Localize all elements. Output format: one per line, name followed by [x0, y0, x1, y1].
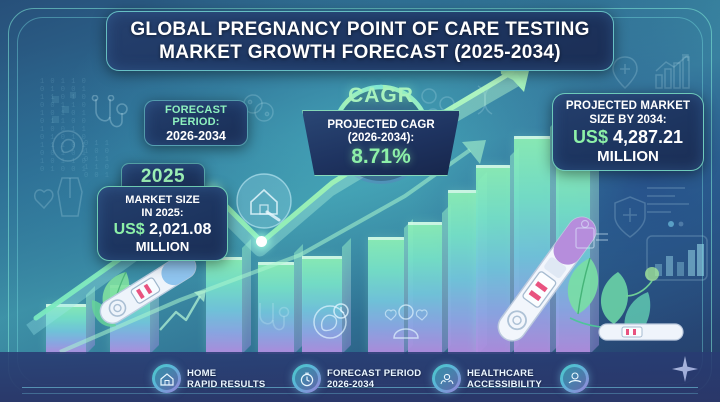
- hand-coin-icon: [560, 364, 589, 393]
- projected-unit: MILLION: [597, 148, 659, 165]
- projected-amount-row: US$ 4,287.21: [573, 127, 683, 148]
- cagr-arc-label: CAGR: [288, 84, 474, 108]
- projected-market-size-box: PROJECTED MARKET SIZE BY 2034: US$ 4,287…: [552, 93, 704, 171]
- footer-item-home: HOME RAPID RESULTS: [152, 364, 265, 393]
- stopwatch-icon-inner: [295, 367, 318, 390]
- cagr-value: 8.71%: [351, 145, 411, 168]
- footer-label-home: HOME RAPID RESULTS: [187, 368, 265, 390]
- market-currency: US$: [114, 221, 145, 238]
- footer-forecast-line-2: 2026-2034: [327, 379, 421, 390]
- page-title: GLOBAL PREGNANCY POINT OF CARE TESTING M…: [106, 11, 614, 71]
- forecast-period-value: 2026-2034: [166, 129, 226, 143]
- infographic-canvas: 1 0 1 1 0 0 1 0 0 1 1 1 0 1 0 0 0 1 1 0 …: [0, 0, 720, 402]
- market-amount: 2,021.08: [149, 221, 211, 238]
- market-unit: MILLION: [136, 239, 189, 254]
- projected-line-2: SIZE BY 2034:: [589, 113, 666, 127]
- footer-healthcare-line-2: ACCESSIBILITY: [467, 379, 542, 390]
- projected-currency: US$: [573, 127, 608, 147]
- stopwatch-icon: [292, 364, 321, 393]
- cagr-ribbon: PROJECTED CAGR (2026-2034): 8.71%: [302, 110, 460, 176]
- cagr-line-2: (2026-2034):: [348, 132, 414, 145]
- home-icon: [152, 364, 181, 393]
- market-line-2: IN 2025:: [141, 207, 183, 220]
- market-size-2025-box: MARKET SIZE IN 2025: US$ 2,021.08 MILLIO…: [97, 186, 228, 261]
- caring-hands-icon: [432, 364, 461, 393]
- title-text: GLOBAL PREGNANCY POINT OF CARE TESTING M…: [130, 18, 589, 64]
- footer-item-trailing: [560, 364, 589, 393]
- hand-coin-icon-inner: [563, 367, 586, 390]
- footer-home-line-1: HOME: [187, 368, 265, 379]
- footer-label-healthcare: HEALTHCARE ACCESSIBILITY: [467, 368, 542, 390]
- title-line-1: GLOBAL PREGNANCY POINT OF CARE TESTING: [130, 18, 589, 41]
- footer-item-forecast: FORECAST PERIOD 2026-2034: [292, 364, 421, 393]
- home-icon-inner: [155, 367, 178, 390]
- market-line-1: MARKET SIZE: [125, 194, 200, 207]
- year-tab-label: 2025: [141, 166, 185, 188]
- forecast-period-label: FORECAST PERIOD:: [145, 104, 247, 129]
- footer-label-forecast: FORECAST PERIOD 2026-2034: [327, 368, 421, 390]
- footer-home-line-2: RAPID RESULTS: [187, 379, 265, 390]
- caring-hands-icon-inner: [435, 367, 458, 390]
- projected-amount: 4,287.21: [613, 127, 683, 147]
- market-amount-row: US$ 2,021.08: [114, 220, 212, 239]
- footer-item-healthcare: HEALTHCARE ACCESSIBILITY: [432, 364, 542, 393]
- cagr-line-1: PROJECTED CAGR: [327, 119, 434, 132]
- title-line-2: MARKET GROWTH FORECAST (2025-2034): [130, 41, 589, 64]
- footer-forecast-line-1: FORECAST PERIOD: [327, 368, 421, 379]
- footer-healthcare-line-1: HEALTHCARE: [467, 368, 542, 379]
- forecast-period-badge: FORECAST PERIOD: 2026-2034: [144, 100, 248, 146]
- projected-line-1: PROJECTED MARKET: [566, 99, 690, 113]
- cagr-badge-group: CAGR PROJECTED CAGR (2026-2034): 8.71%: [288, 78, 474, 186]
